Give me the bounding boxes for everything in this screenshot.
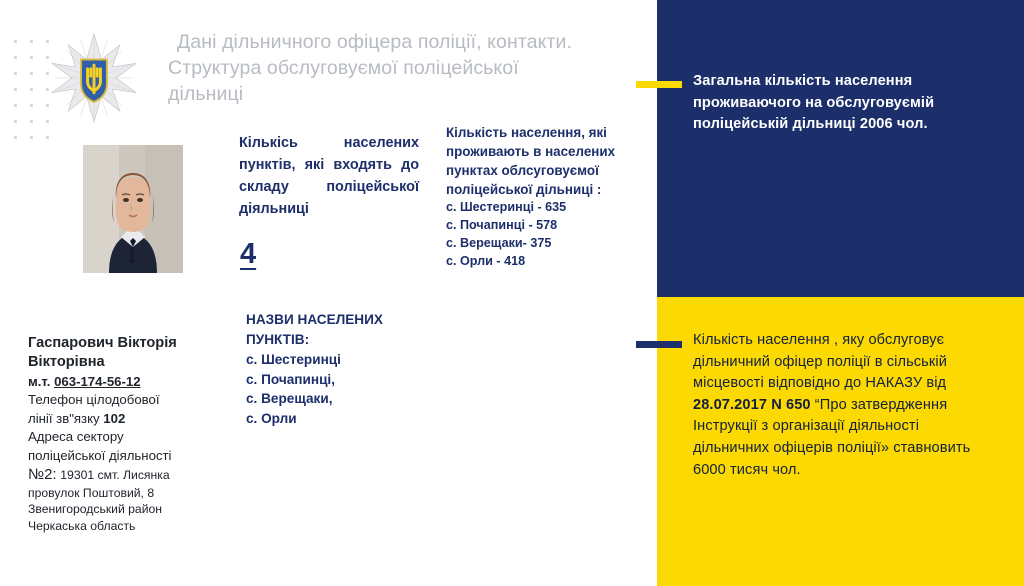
population-row: с. Почапинці - 578 — [446, 217, 626, 235]
officer-name-line-2: Вікторівна — [28, 353, 228, 372]
address-label-line-2: поліцейської діяльності — [28, 447, 228, 464]
population-row: с. Шестеринці - 635 — [446, 199, 626, 217]
settlement-names-heading-1: НАЗВИ НАСЕЛЕНИХ — [246, 310, 426, 330]
officer-name-line-1: Гаспарович Вікторія — [28, 334, 228, 353]
page-title-line-2: Структура обслуговуємої поліцейської — [168, 56, 608, 82]
page-title-line-3: дільниці — [168, 82, 608, 108]
hotline-line-1: Телефон цілодобової — [28, 391, 228, 408]
address-label-line-1: Адреса сектору — [28, 428, 228, 445]
address-sector-number: №2: — [28, 466, 57, 483]
norm-date: 28.07.2017 — [693, 397, 767, 413]
navy-dash-marker-icon — [636, 341, 682, 348]
address-line-3: Звенигородський район — [28, 501, 228, 518]
settlement-name-row: с. Орли — [246, 409, 426, 429]
yellow-dash-marker-icon — [636, 81, 682, 88]
settlement-names-block: НАЗВИ НАСЕЛЕНИХ ПУНКТІВ: с. Шестеринці с… — [246, 310, 426, 429]
address-number-row: №2: 19301 смт. Лисянка — [28, 465, 228, 485]
ukraine-police-star-emblem-icon — [48, 32, 140, 124]
settlement-name-row: с. Почапинці, — [246, 370, 426, 390]
settlement-name-row: с. Верещаки, — [246, 389, 426, 409]
norm-decree-number: N 650 — [771, 397, 810, 413]
settlements-count-value: 4 — [240, 238, 256, 271]
address-line-4: Черкаська область — [28, 518, 228, 535]
population-by-village-heading: Кількість населення, які проживають в на… — [446, 123, 626, 199]
officer-portrait-photo — [83, 145, 183, 273]
settlement-name-row: с. Шестеринці — [246, 350, 426, 370]
page-title: Дані дільничного офіцера поліції, контак… — [168, 30, 608, 108]
hotline-number: 102 — [103, 411, 125, 426]
officer-details: Гаспарович Вікторія Вікторівна м.т. 063-… — [28, 334, 228, 535]
total-population-text: Загальна кількість населення проживаючог… — [693, 71, 993, 136]
page-title-line-1: Дані дільничного офіцера поліції, контак… — [168, 30, 608, 56]
norm-population-text: Кількість населення , яку обслуговує діл… — [693, 330, 993, 481]
slide-root: Загальна кількість населення проживаючог… — [0, 0, 1024, 586]
address-line-1: 19301 смт. Лисянка — [60, 468, 169, 482]
officer-mobile-label: м.т. — [28, 374, 50, 389]
settlements-count-label: Кількісь населених пунктів, які входять … — [239, 133, 419, 221]
hotline-label: лінії зв"язку — [28, 411, 100, 426]
hotline-line-2: лінії зв"язку 102 — [28, 410, 228, 427]
population-row: с. Верещаки- 375 — [446, 235, 626, 253]
navy-info-panel — [657, 0, 1024, 297]
population-by-village-block: Кількість населення, які проживають в на… — [446, 123, 626, 271]
population-row: с. Орли - 418 — [446, 253, 626, 271]
settlement-names-heading-2: ПУНКТІВ: — [246, 330, 426, 350]
officer-mobile-number[interactable]: 063-174-56-12 — [54, 374, 141, 389]
address-line-2: провулок Поштовий, 8 — [28, 485, 228, 502]
officer-mobile-row: м.т. 063-174-56-12 — [28, 373, 228, 390]
norm-text-part1: Кількість населення , яку обслуговує діл… — [693, 332, 947, 391]
